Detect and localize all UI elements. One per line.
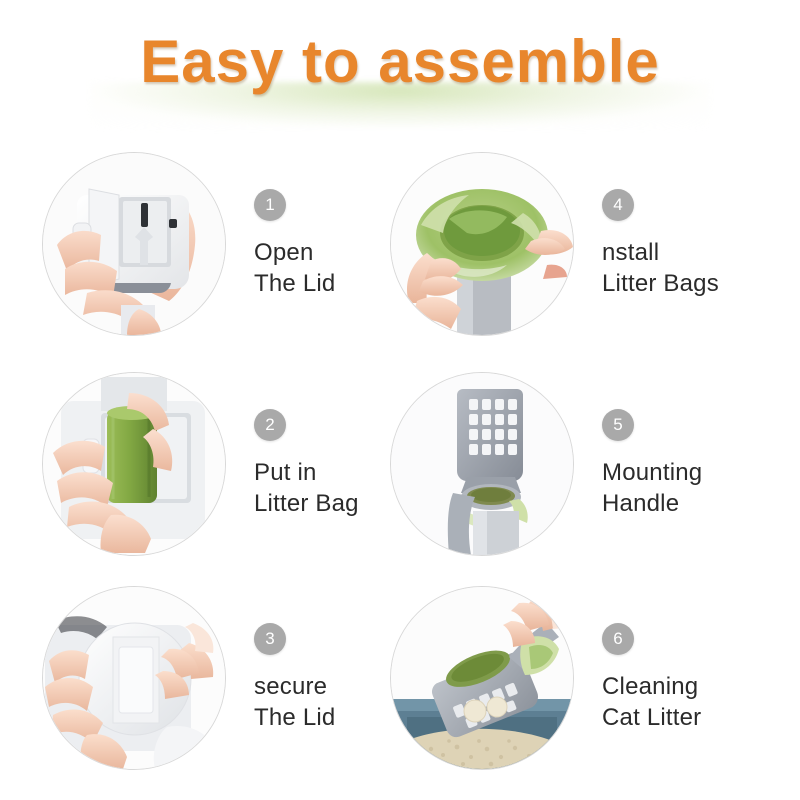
- step-label-6-line2: Cat Litter: [602, 702, 760, 733]
- step-item-4: 4 nstall Litter Bags: [390, 138, 760, 350]
- photo-cleaning-cat-litter: [390, 586, 574, 770]
- step-caption-2: 2 Put in Litter Bag: [226, 409, 412, 519]
- step-item-1: 1 Open The Lid: [42, 138, 412, 350]
- step-caption-3: 3 secure The Lid: [226, 623, 412, 733]
- step-label-6-line1: Cleaning: [602, 671, 760, 702]
- photo-secure-the-lid: [42, 586, 226, 770]
- step-badge-4: 4: [602, 189, 634, 221]
- step-label-1-line2: The Lid: [254, 268, 412, 299]
- step-item-3: 3 secure The Lid: [42, 572, 412, 784]
- step-caption-1: 1 Open The Lid: [226, 189, 412, 299]
- step-item-6: 6 Cleaning Cat Litter: [390, 572, 760, 784]
- step-badge-6: 6: [602, 623, 634, 655]
- step-label-4-line2: Litter Bags: [602, 268, 760, 299]
- page-title-block: Easy to assemble: [0, 26, 800, 118]
- page-title: Easy to assemble: [0, 26, 800, 98]
- step-caption-4: 4 nstall Litter Bags: [574, 189, 760, 299]
- step-badge-3: 3: [254, 623, 286, 655]
- step-badge-1: 1: [254, 189, 286, 221]
- step-label-2-line1: Put in: [254, 457, 412, 488]
- step-label-2-line2: Litter Bag: [254, 488, 412, 519]
- step-badge-2: 2: [254, 409, 286, 441]
- step-item-5: 5 Mounting Handle: [390, 358, 760, 570]
- step-caption-6: 6 Cleaning Cat Litter: [574, 623, 760, 733]
- photo-put-in-litter-bag: [42, 372, 226, 556]
- step-badge-5: 5: [602, 409, 634, 441]
- photo-open-the-lid: [42, 152, 226, 336]
- photo-mounting-handle: [390, 372, 574, 556]
- step-item-2: 2 Put in Litter Bag: [42, 358, 412, 570]
- step-label-3-line1: secure: [254, 671, 412, 702]
- photo-install-litter-bags: [390, 152, 574, 336]
- step-label-1-line1: Open: [254, 237, 412, 268]
- step-label-4-line1: nstall: [602, 237, 760, 268]
- step-label-5-line2: Handle: [602, 488, 760, 519]
- step-caption-5: 5 Mounting Handle: [574, 409, 760, 519]
- step-label-5-line1: Mounting: [602, 457, 760, 488]
- step-label-3-line2: The Lid: [254, 702, 412, 733]
- steps-grid: 1 Open The Lid: [0, 132, 800, 792]
